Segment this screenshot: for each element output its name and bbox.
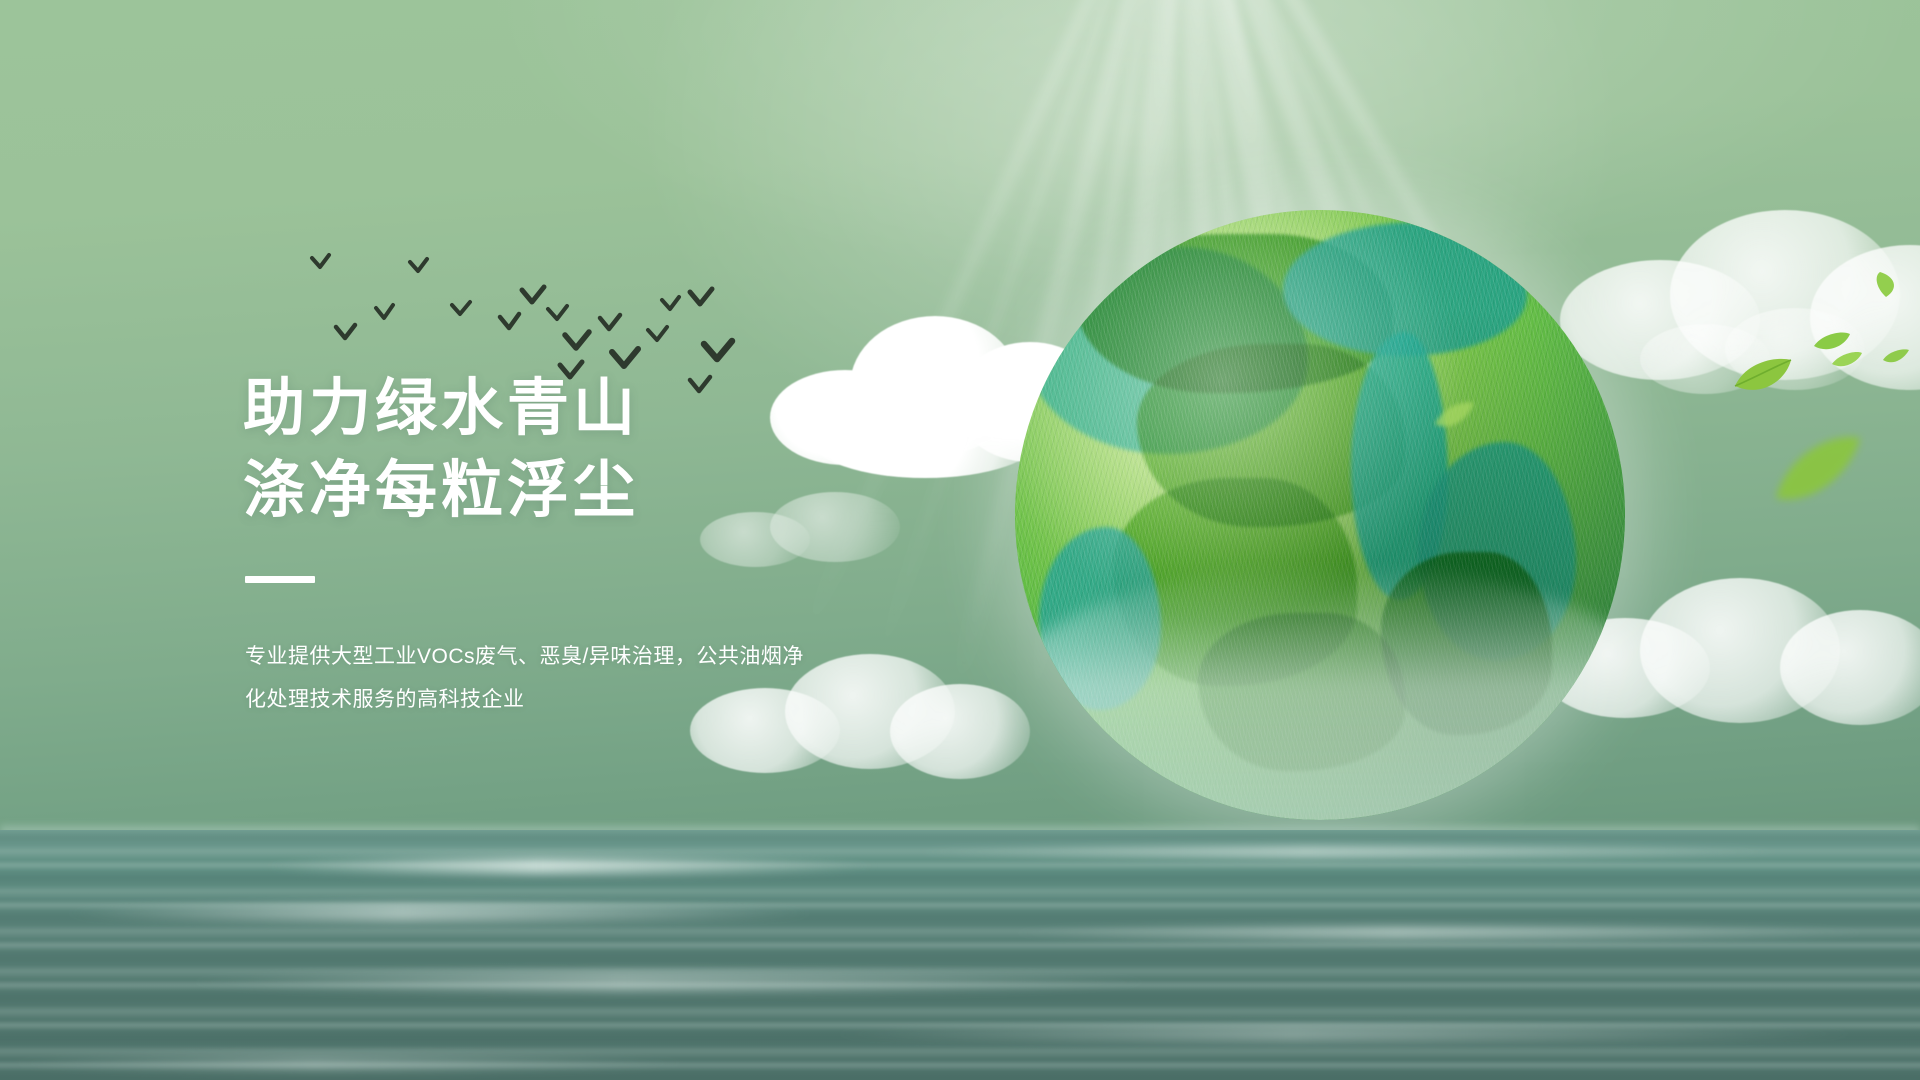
headline-line-2: 涤净每粒浮尘 [243, 450, 943, 532]
leaf-blurred-lower-right [1770, 432, 1866, 504]
leaf-top-right [1872, 272, 1902, 298]
leaf-large-right [1732, 356, 1794, 400]
hero-subtitle: 专业提供大型工业VOCs废气、恶臭/异味治理，公共油烟净 化处理技术服务的高科技… [245, 635, 895, 721]
eco-hero-banner: 助力绿水青山 涤净每粒浮尘 专业提供大型工业VOCs废气、恶臭/异味治理，公共油… [0, 0, 1920, 1080]
grass-earth-globe [1015, 210, 1625, 820]
hero-copy: 助力绿水青山 涤净每粒浮尘 专业提供大型工业VOCs废气、恶臭/异味治理，公共油… [243, 368, 943, 721]
water-surface [0, 830, 1920, 1080]
leaf-small-right [1830, 350, 1864, 370]
horizon-glow [0, 826, 1920, 852]
cloud-cluster-right-upper [1560, 190, 1920, 410]
cloud-wisp-right-mid [1640, 300, 1870, 400]
subtitle-line-2: 化处理技术服务的高科技企业 [245, 678, 895, 721]
leaf-blurred-left-of-globe [1432, 400, 1476, 432]
leaf-mid-right [1812, 330, 1852, 354]
leaf-far-right [1882, 348, 1910, 366]
headline-line-1: 助力绿水青山 [243, 368, 943, 450]
cloud-cluster-right-lower [1540, 560, 1920, 740]
subtitle-line-1: 专业提供大型工业VOCs废气、恶臭/异味治理，公共油烟净 [245, 635, 895, 678]
page-title: 助力绿水青山 涤净每粒浮尘 [243, 368, 943, 532]
divider-rule [245, 576, 315, 583]
globe-water-reflection [1015, 838, 1625, 1080]
